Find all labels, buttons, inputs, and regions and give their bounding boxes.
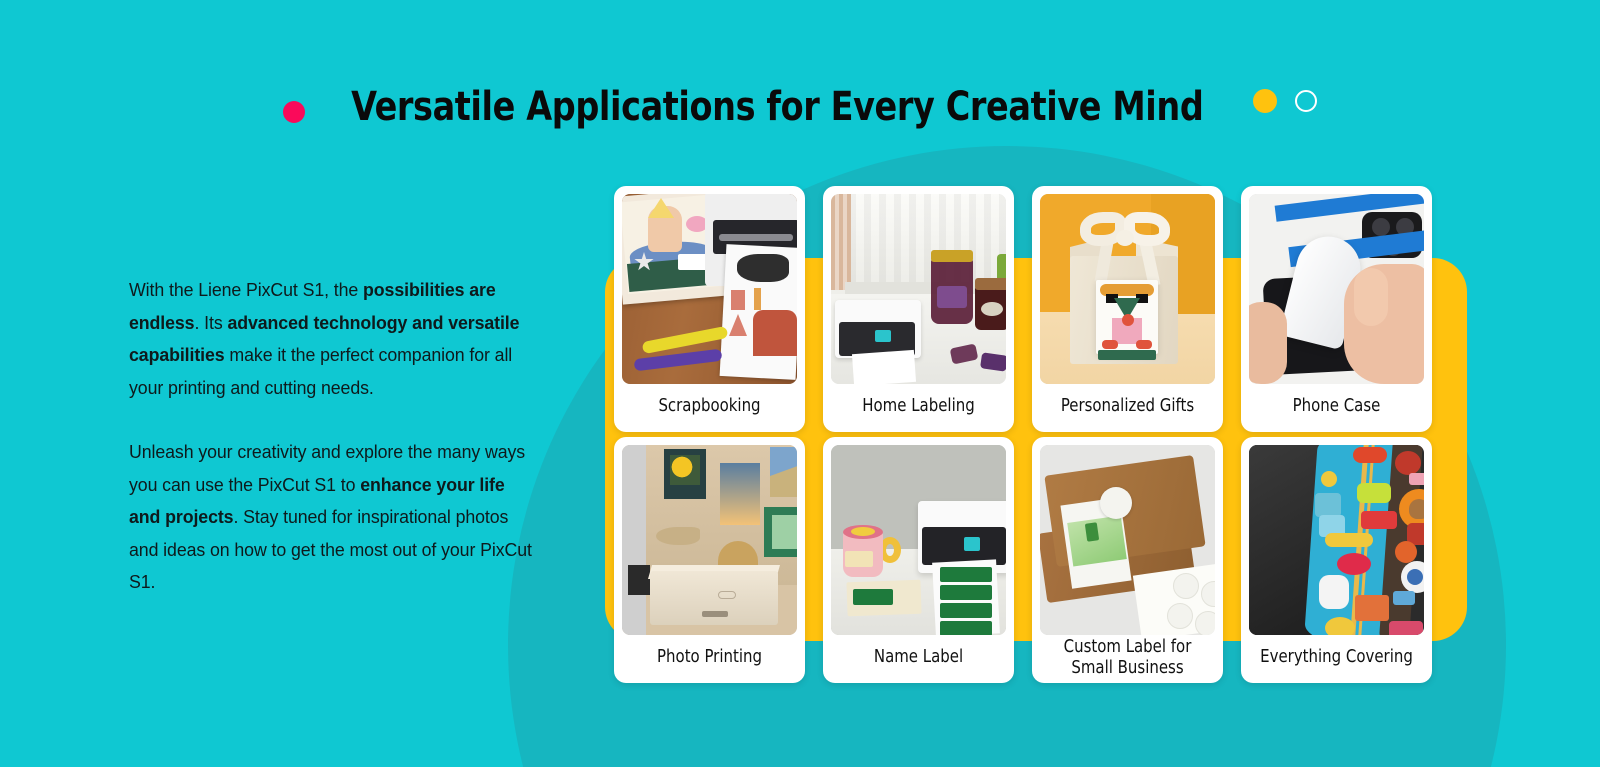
card-label-personalized-gifts: Personalized Gifts (1044, 384, 1210, 432)
pink-dot-icon (283, 101, 305, 123)
card-image-custom-label (1040, 445, 1215, 635)
paragraph-two: Unleash your creativity and explore the … (129, 436, 537, 599)
page-title: Versatile Applications for Every Creativ… (351, 84, 1203, 130)
card-label-home-labeling: Home Labeling (835, 384, 1001, 432)
p1-text-2: . Its (194, 312, 227, 333)
application-card-everything-covering[interactable]: Everything Covering (1241, 437, 1432, 683)
card-image-phone-case (1249, 194, 1424, 384)
application-card-home-labeling[interactable]: Home Labeling (823, 186, 1014, 432)
application-card-scrapbooking[interactable]: Scrapbooking (614, 186, 805, 432)
application-card-photo-printing[interactable]: Photo Printing (614, 437, 805, 683)
yellow-dot-icon (1253, 89, 1277, 113)
application-card-name-label[interactable]: Name Label (823, 437, 1014, 683)
card-label-custom-label: Custom Label for Small Business (1044, 635, 1210, 683)
card-label-name-label: Name Label (835, 635, 1001, 683)
application-card-phone-case[interactable]: Phone Case (1241, 186, 1432, 432)
paragraph-one: With the Liene PixCut S1, the possibilit… (129, 274, 537, 404)
intro-copy: With the Liene PixCut S1, the possibilit… (129, 274, 554, 599)
page-header: Versatile Applications for Every Creativ… (0, 74, 1600, 140)
card-label-everything-covering: Everything Covering (1253, 635, 1419, 683)
card-image-home-labeling (831, 194, 1006, 384)
outline-dot-icon (1295, 90, 1317, 112)
card-image-scrapbooking (622, 194, 797, 384)
card-label-photo-printing: Photo Printing (626, 635, 792, 683)
card-image-name-label (831, 445, 1006, 635)
application-card-custom-label[interactable]: Custom Label for Small Business (1032, 437, 1223, 683)
application-card-personalized-gifts[interactable]: Personalized Gifts (1032, 186, 1223, 432)
card-image-everything-covering (1249, 445, 1424, 635)
p1-text-1: With the Liene PixCut S1, the (129, 279, 363, 300)
card-label-scrapbooking: Scrapbooking (626, 384, 792, 432)
card-image-photo-printing (622, 445, 797, 635)
card-label-phone-case: Phone Case (1253, 384, 1419, 432)
application-card-grid: Scrapbooking Home Labeling (614, 186, 1436, 683)
card-image-personalized-gifts (1040, 194, 1215, 384)
